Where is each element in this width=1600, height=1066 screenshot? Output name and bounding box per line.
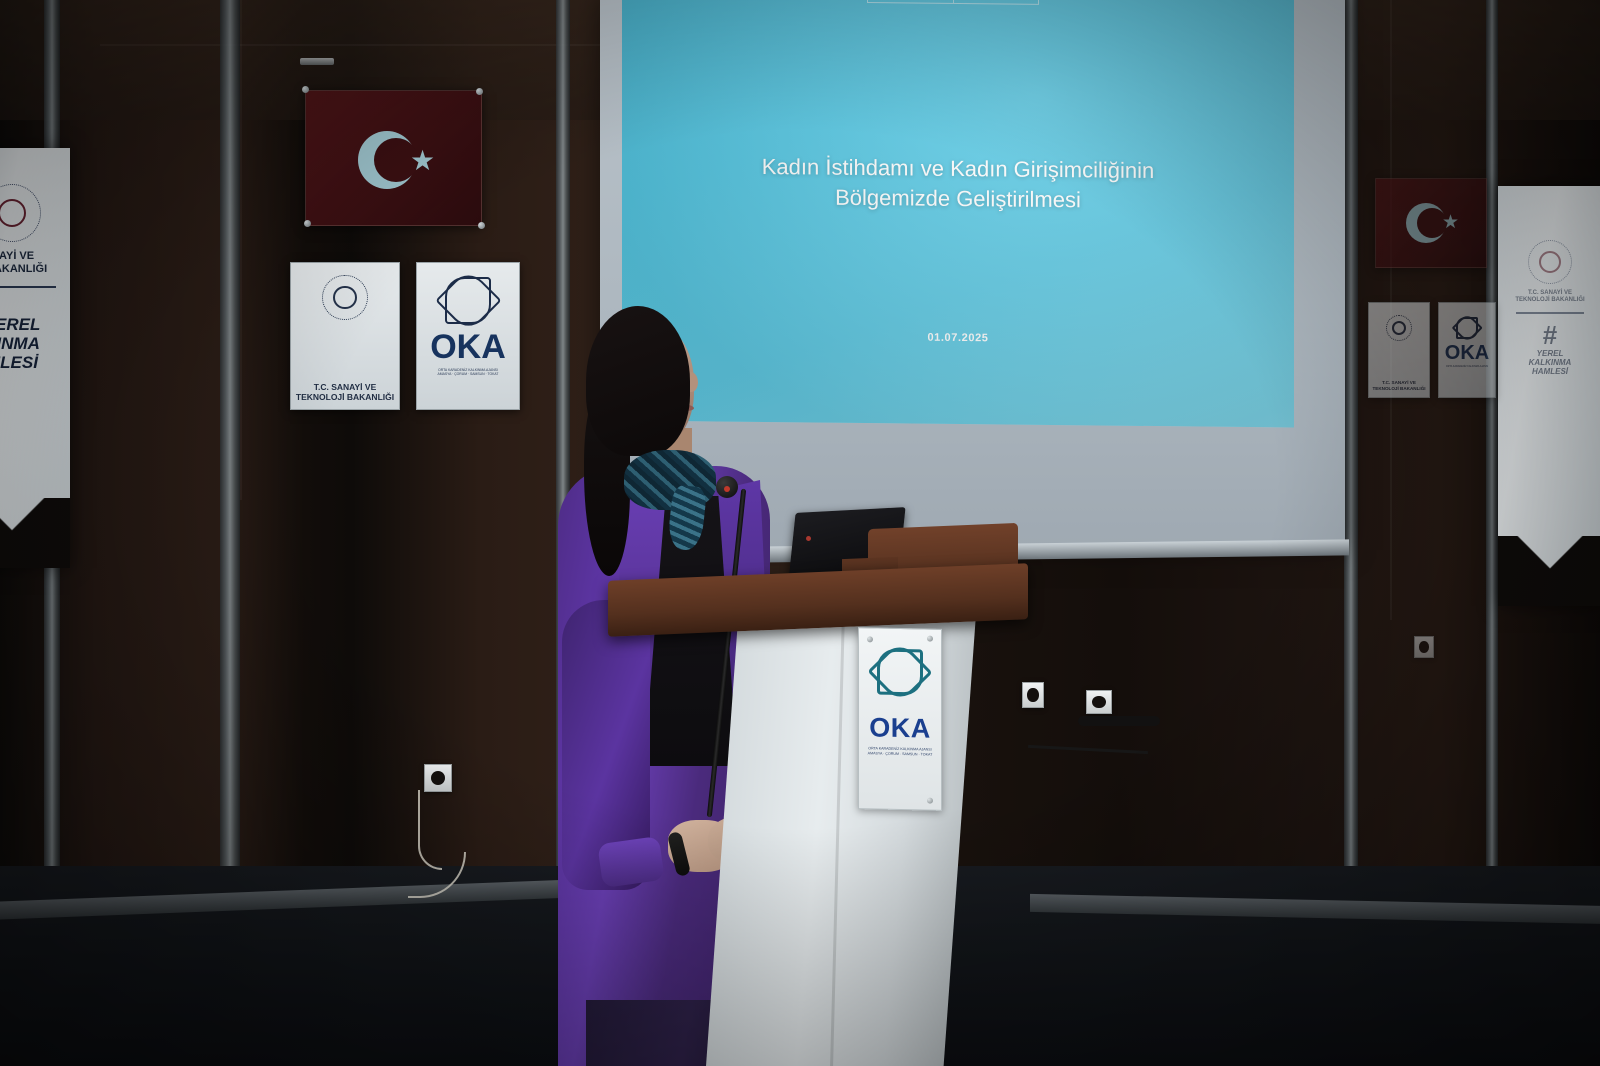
laptop-indicator [806,536,811,541]
ministry-seal-icon [0,184,41,242]
banner-divider [0,286,56,288]
star-icon: ★ [410,147,435,175]
hashtag-logo: # YERELKALKINMAHAMLESİ [954,0,1039,4]
wall-plaque-oka-wordmark: OKA [1445,343,1489,363]
crescent-icon [1406,203,1446,243]
ceiling-light [300,58,334,65]
podium-plaque-wordmark: OKA [869,714,931,742]
wall-plaque-oka-wordmark: OKA [430,330,506,364]
ministry-seal-logo: T.C. SANAYİ VETEKNOLOJİ BAKANLIĞI [868,0,954,3]
wall-plaque-oka-subtext: ORTA KARADENİZ KALKINMA AJANSI [1446,366,1488,369]
slide-title: Kadın İstihdamı ve Kadın Girişimciliğini… [622,150,1294,217]
podium-oka-plaque: OKA ORTA KARADENİZ KALKINMA AJANSIAMASYA… [858,627,942,811]
flag-stud [302,86,309,93]
plaque-screw [927,798,933,804]
flag-stud [304,220,311,227]
ministry-seal-icon [322,275,367,320]
flag-stud [476,88,483,95]
presentation-photo: T.C. SANAYİ VETEKNOLOJİ BAKANLIĞI # YERE… [0,0,1600,1066]
wall-outlet[interactable] [1414,636,1434,658]
banner-ministry-text: ...AYİ VE ...BAKANLIĞI [0,250,70,276]
microphone-indicator [724,486,730,492]
crescent-icon [358,131,416,189]
rollup-banner-left: ...AYİ VE ...BAKANLIĞI YEREL KINMA MLESİ [0,148,70,568]
oka-rosette-icon [1456,317,1478,339]
cable-bundle [1078,716,1160,726]
podium-plaque-subtext: ORTA KARADENİZ KALKINMA AJANSIAMASYA · Ç… [863,746,938,758]
wall-plaque-ministry-label: T.C. SANAYİ VE TEKNOLOJİ BAKANLIĞI [1372,380,1425,391]
wall-plaque-ministry-label: T.C. SANAYİ VE TEKNOLOJİ BAKANLIĞI [296,383,394,403]
oka-rosette-icon [877,649,923,696]
wall-plaque-ministry-left: T.C. SANAYİ VE TEKNOLOJİ BAKANLIĞI [290,262,400,410]
wall-seam [240,0,242,500]
slide-title-line1: Kadın İstihdamı ve Kadın Girişimciliğini… [622,150,1294,187]
banner-slogan: YEREL KALKINMA HAMLESİ [1498,350,1600,376]
wall-plaque-oka-right: OKA ORTA KARADENİZ KALKINMA AJANSI [1438,302,1496,398]
wall-plaque-oka-left: OKA ORTA KARADENİZ KALKINMA AJANSIAMASYA… [416,262,520,410]
plaque-screw [867,636,873,642]
banner-slogan: YEREL KINMA MLESİ [0,316,70,372]
hashtag-icon: # [1498,322,1600,348]
wall-seam [100,44,620,46]
rollup-banner-right: T.C. SANAYİ VE TEKNOLOJİ BAKANLIĞI # YER… [1498,186,1600,606]
oka-rosette-icon [445,277,492,324]
flag-stud [478,222,485,229]
wall-outlet[interactable] [1086,690,1112,714]
slide-title-line2: Bölgemizde Geliştirilmesi [622,180,1294,217]
presenter-hair [586,306,690,456]
plaque-screw [927,636,933,642]
speaker-podium: OKA ORTA KARADENİZ KALKINMA AJANSIAMASYA… [600,510,1040,1066]
ministry-seal-icon [1528,240,1572,284]
wall-plaque-ministry-right: T.C. SANAYİ VE TEKNOLOJİ BAKANLIĞI [1368,302,1430,398]
banner-ministry-text: T.C. SANAYİ VE TEKNOLOJİ BAKANLIĞI [1498,290,1600,304]
wall-plaque-oka-subtext: ORTA KARADENİZ KALKINMA AJANSIAMASYA · Ç… [438,368,499,376]
star-icon: ★ [1442,213,1459,232]
slide-header-logos: T.C. SANAYİ VETEKNOLOJİ BAKANLIĞI # YERE… [867,0,1039,5]
turkish-flag-right: ★ [1375,178,1487,268]
ministry-seal-icon [1386,315,1412,341]
turkish-flag-left: ★ [305,90,482,226]
banner-divider [1516,312,1584,314]
wall-outlet[interactable] [424,764,452,792]
